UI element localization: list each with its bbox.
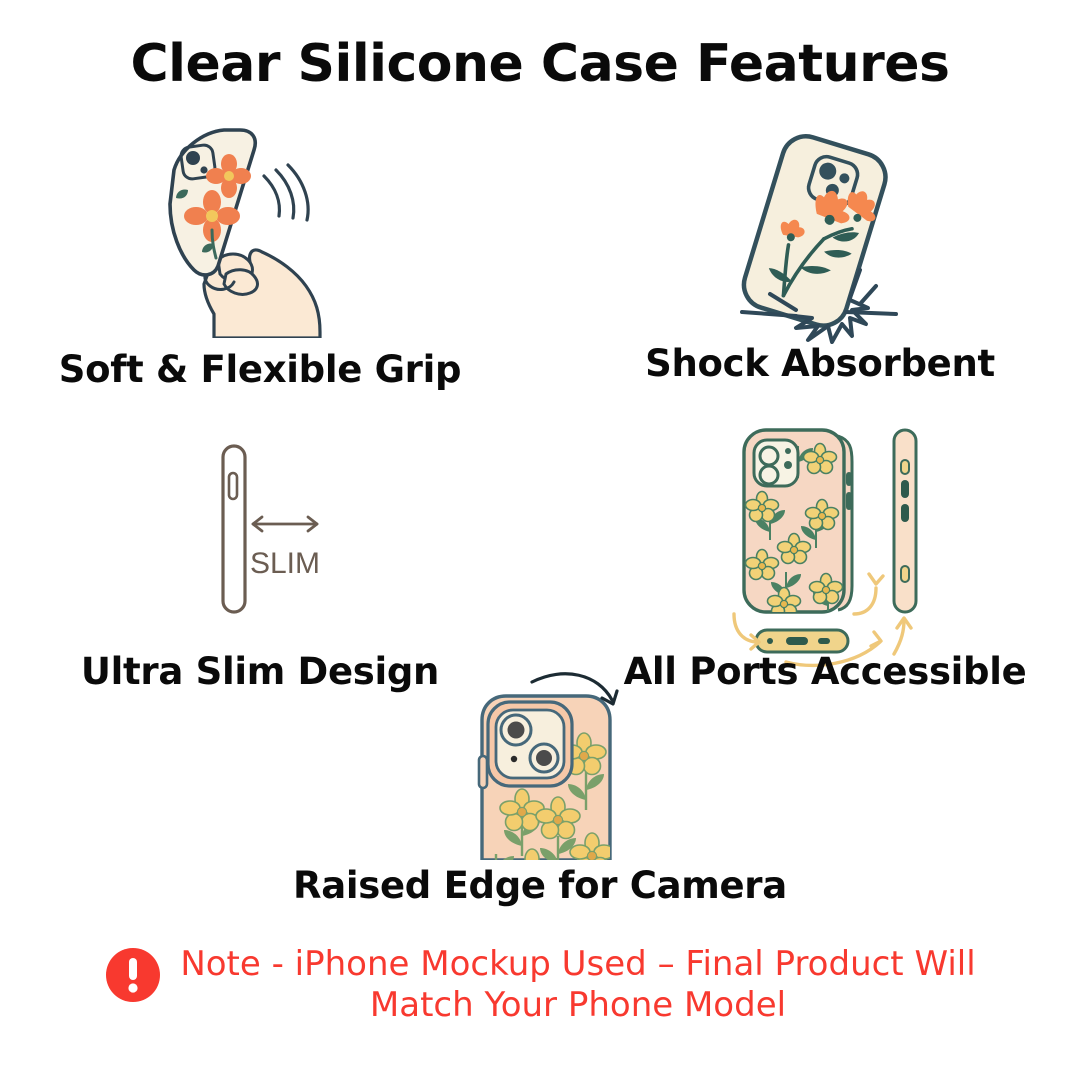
ultra-slim-design-illustration: SLIM xyxy=(190,428,380,633)
phone-impact-burst-icon xyxy=(700,120,930,350)
raised-camera-bump xyxy=(488,702,572,786)
raised-edge-camera-illustration xyxy=(440,660,660,865)
width-double-arrow-icon xyxy=(253,517,317,531)
motion-arc-lines xyxy=(264,165,308,220)
exclamation-circle-icon xyxy=(104,946,162,1009)
all-ports-accessible-illustration xyxy=(698,418,948,673)
hand-holding-flexing-phone-case-icon xyxy=(140,118,360,338)
side-button-icon xyxy=(479,756,487,788)
feature-label-soft-flexible-grip: Soft & Flexible Grip xyxy=(0,348,520,391)
note-line-2: Match Your Phone Model xyxy=(180,985,975,1026)
soft-flexible-grip-illustration xyxy=(140,118,360,343)
slim-measure-label: SLIM xyxy=(250,547,320,580)
bottom-edge-ports xyxy=(756,630,848,652)
phone-raised-camera-bump-icon xyxy=(440,660,660,860)
side-profile-view xyxy=(894,430,916,612)
phone-back-side-bottom-ports-icon xyxy=(698,418,948,668)
page-title: Clear Silicone Case Features xyxy=(0,34,1080,94)
feature-infographic-page: Clear Silicone Case Features xyxy=(0,0,1080,1080)
shock-absorbent-illustration xyxy=(700,120,930,355)
feature-label-raised-edge-camera: Raised Edge for Camera xyxy=(180,864,900,907)
feature-label-shock-absorbent: Shock Absorbent xyxy=(570,342,1070,385)
note-banner: Note - iPhone Mockup Used – Final Produc… xyxy=(0,944,1080,1027)
note-line-1: Note - iPhone Mockup Used – Final Produc… xyxy=(180,944,975,985)
phone-side-profile-slim-icon: SLIM xyxy=(190,428,380,628)
note-text: Note - iPhone Mockup Used – Final Produc… xyxy=(180,944,975,1027)
